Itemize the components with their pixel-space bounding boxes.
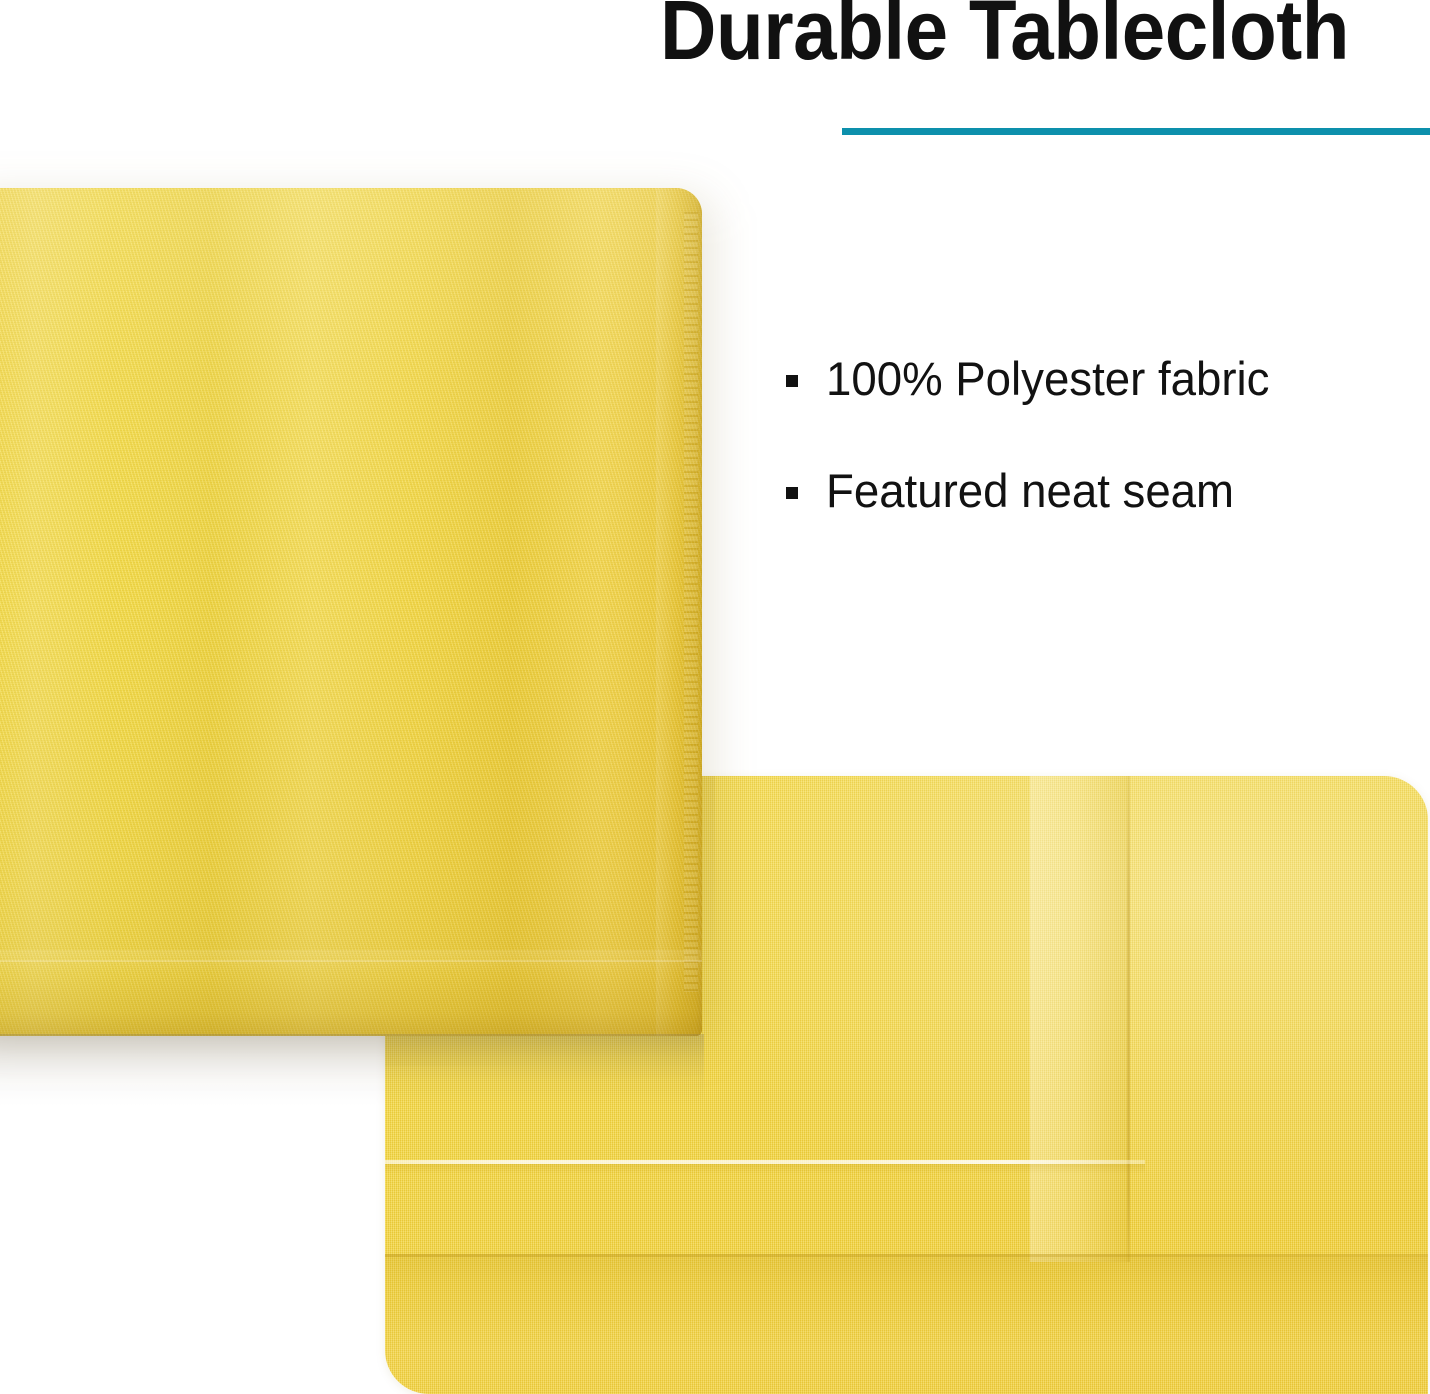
bottom-fold-highlight [0, 960, 702, 962]
right-rolled-edge [656, 188, 702, 1036]
page-title: Durable Tablecloth [660, 0, 1423, 72]
bottom-fold-edge [385, 1254, 1428, 1257]
feature-list: 100% Polyester fabric Featured neat seam [786, 352, 1426, 576]
stacked-layer-edges [684, 212, 698, 992]
feature-label: 100% Polyester fabric [826, 352, 1269, 406]
fabric-weave-texture [0, 188, 702, 1036]
vertical-hem-edge [1127, 776, 1130, 1262]
title-divider [842, 128, 1430, 135]
vertical-hem-band [1030, 776, 1130, 1262]
fabric-fold-highlights [0, 188, 702, 1036]
product-infographic: Durable Tablecloth 100% Polyester fabric… [0, 0, 1430, 1394]
stitched-seam-line [385, 1160, 1145, 1164]
square-bullet-icon [786, 375, 798, 387]
square-bullet-icon [786, 487, 798, 499]
list-item: Featured neat seam [786, 464, 1426, 518]
bottom-rolled-fold [0, 950, 702, 1036]
folded-tablecloth-stack-image [0, 188, 702, 1036]
bottom-hem-band [385, 1254, 1428, 1394]
list-item: 100% Polyester fabric [786, 352, 1426, 406]
fabric-top-lighting [0, 188, 702, 1036]
feature-label: Featured neat seam [826, 464, 1234, 518]
seam-shadow [385, 1164, 1145, 1174]
